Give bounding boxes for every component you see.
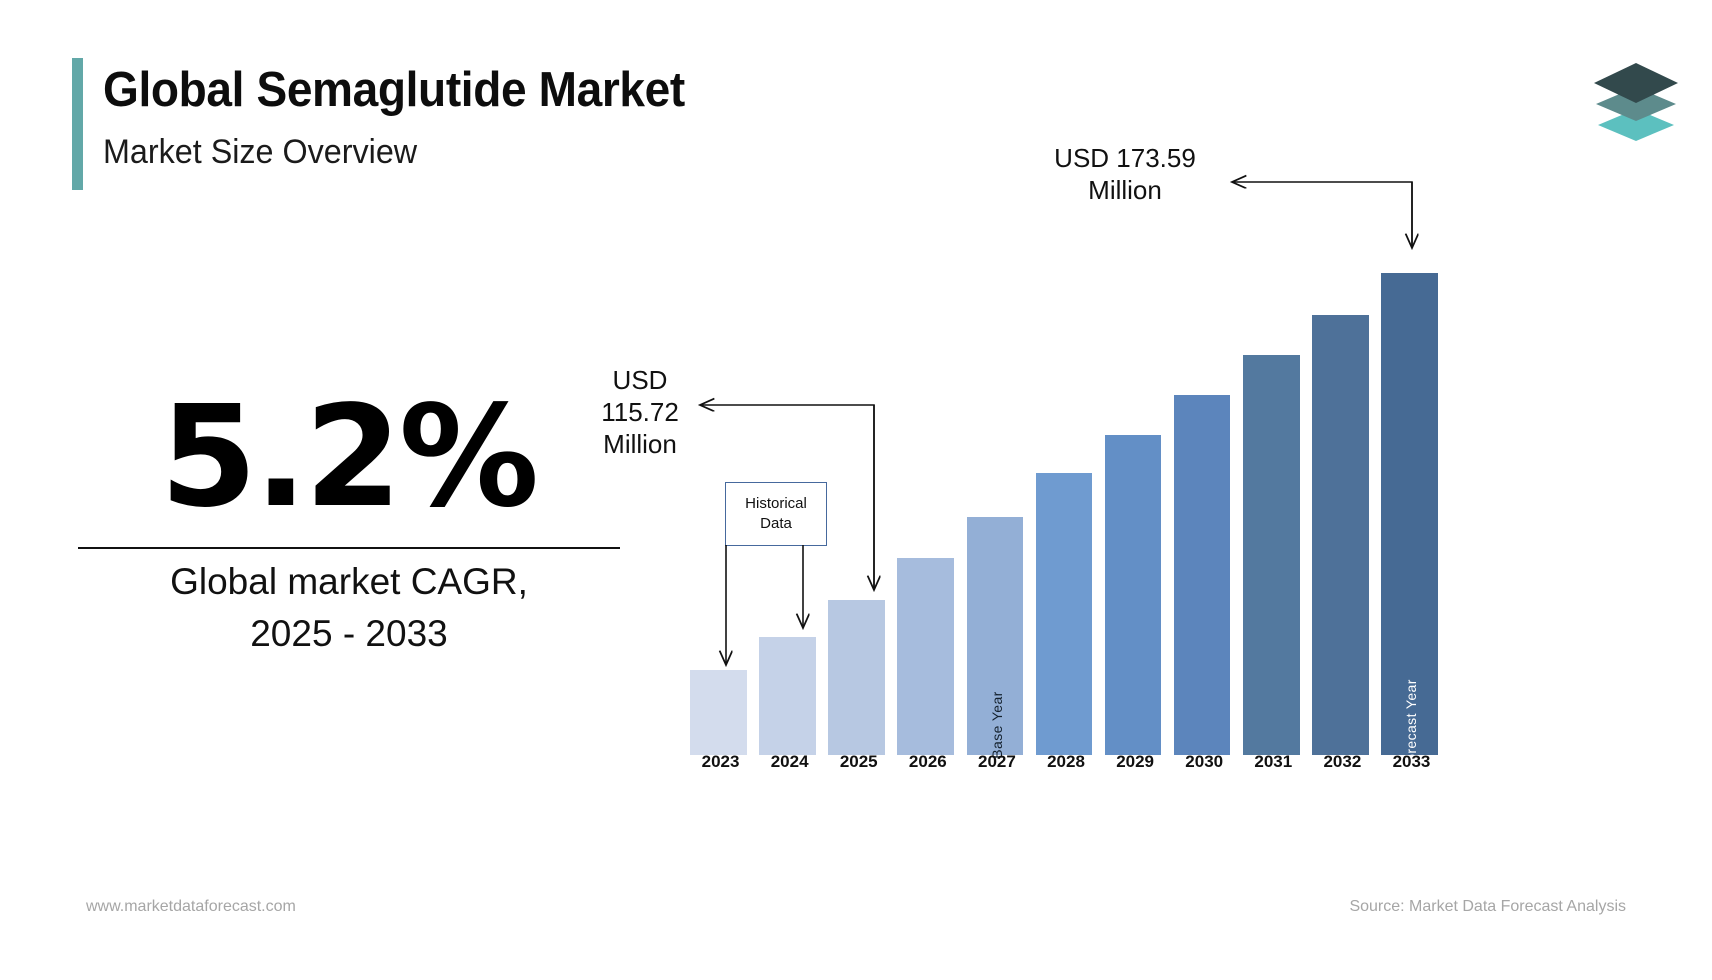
forecast-value-callout: USD 173.59 Million — [980, 142, 1270, 206]
base-value-callout: USD 115.72 Million — [540, 364, 740, 460]
x-label-2032: 2032 — [1308, 752, 1377, 780]
forecast-value-line2: Million — [980, 174, 1270, 206]
bar-2030 — [1174, 395, 1231, 755]
footer-source: Source: Market Data Forecast Analysis — [1349, 898, 1626, 916]
x-label-2024: 2024 — [755, 752, 824, 780]
base-value-line1: USD — [540, 364, 740, 396]
x-axis-labels: 2023 2024 2025 2026 2027 2028 2029 2030 … — [686, 752, 1446, 780]
bar-cell-2025 — [824, 260, 893, 755]
x-label-2033: 2033 — [1377, 752, 1446, 780]
title-accent-bar — [72, 58, 83, 190]
x-label-2028: 2028 — [1031, 752, 1100, 780]
bar-cell-2029 — [1101, 260, 1170, 755]
layers-logo — [1588, 57, 1684, 145]
page-title: Global Semaglutide Market — [103, 62, 685, 118]
bar-cell-2033: Forecast Year — [1377, 260, 1446, 755]
cagr-value: 5.2% — [78, 388, 618, 528]
x-label-2029: 2029 — [1101, 752, 1170, 780]
bar-cell-2027: Base Year — [962, 260, 1031, 755]
base-value-line2: 115.72 — [540, 396, 740, 428]
bar-2029 — [1105, 435, 1162, 755]
bar-2031 — [1243, 355, 1300, 755]
footer-website: www.marketdataforecast.com — [86, 898, 296, 916]
cagr-caption-line2: 2025 - 2033 — [78, 608, 620, 660]
bar-2025 — [828, 600, 885, 755]
historical-data-line2: Data — [745, 514, 807, 534]
bar-cell-2026 — [893, 260, 962, 755]
x-label-2023: 2023 — [686, 752, 755, 780]
base-year-label: Base Year — [989, 691, 1005, 758]
base-value-line3: Million — [540, 428, 740, 460]
bar-2028 — [1036, 473, 1093, 755]
bar-2032 — [1312, 315, 1369, 755]
cagr-caption-line1: Global market CAGR, — [78, 556, 620, 608]
historical-data-box: Historical Data — [725, 482, 827, 546]
bar-2024 — [759, 637, 816, 755]
page-subtitle: Market Size Overview — [103, 133, 417, 172]
historical-data-line1: Historical — [745, 494, 807, 514]
x-label-2030: 2030 — [1170, 752, 1239, 780]
cagr-divider — [78, 547, 620, 549]
bar-cell-2032 — [1308, 260, 1377, 755]
x-label-2025: 2025 — [824, 752, 893, 780]
forecast-value-line1: USD 173.59 — [980, 142, 1270, 174]
infographic-canvas: Global Semaglutide Market Market Size Ov… — [0, 0, 1712, 980]
x-label-2026: 2026 — [893, 752, 962, 780]
x-label-2027: 2027 — [962, 752, 1031, 780]
cagr-caption: Global market CAGR, 2025 - 2033 — [78, 556, 620, 660]
bar-cell-2028 — [1031, 260, 1100, 755]
x-label-2031: 2031 — [1239, 752, 1308, 780]
bar-cell-2031 — [1239, 260, 1308, 755]
bar-2026 — [897, 558, 954, 755]
bar-cell-2030 — [1170, 260, 1239, 755]
bar-2023 — [690, 670, 747, 755]
